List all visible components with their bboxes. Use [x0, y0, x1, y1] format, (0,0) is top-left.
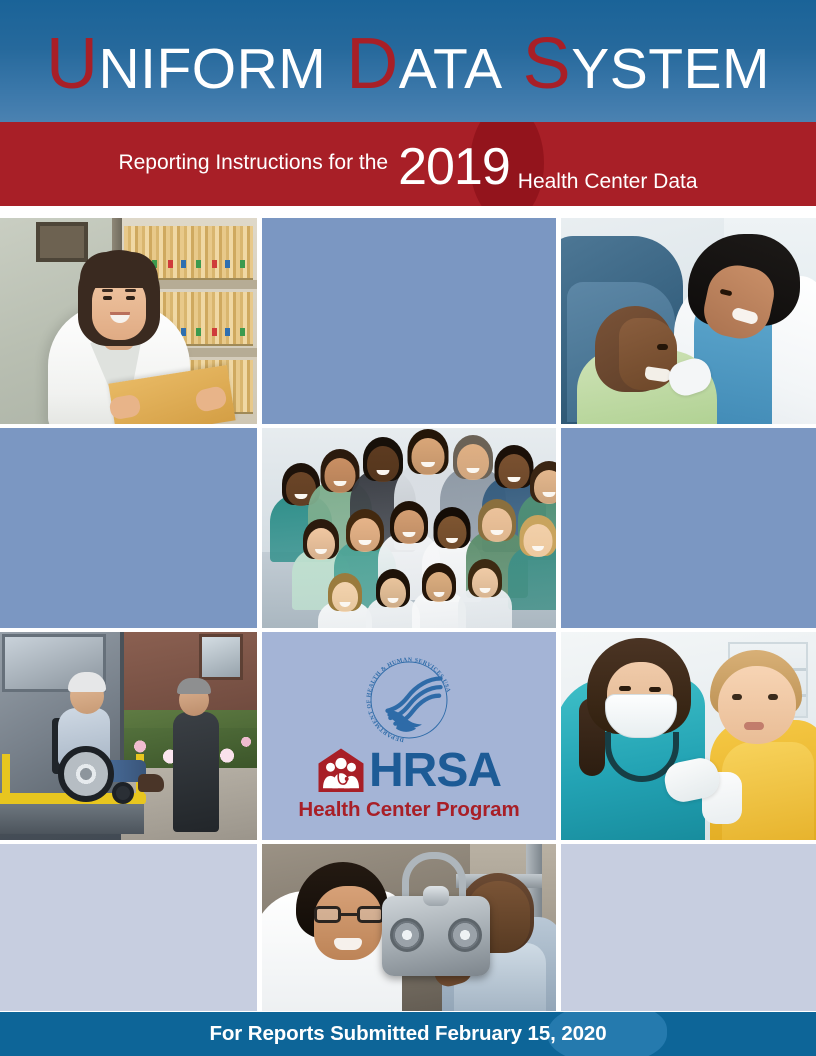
placeholder-r4c1 [0, 844, 257, 1011]
group-person-face [426, 572, 452, 602]
placeholder-r2c1 [0, 428, 257, 628]
group-person-face [472, 568, 498, 598]
document-cover-page: UNIFORMDATASYSTEM Reporting Instructions… [0, 0, 816, 1056]
eyeglass-bridge [341, 913, 357, 916]
photo-child-vaccination [561, 632, 816, 840]
phoropter-knob [423, 886, 449, 906]
cover-footer-band: For Reports Submitted February 15, 2020 [0, 1012, 816, 1056]
subtitle-row: Reporting Instructions for the 2019 Heal… [0, 122, 816, 206]
lift-rail-post [2, 754, 10, 804]
lift-platform [0, 800, 144, 834]
phoropter-lens-dial [448, 918, 482, 952]
staff-eye [126, 296, 135, 300]
optometrist-eyeglasses-icon [314, 906, 384, 923]
attendant-hair [177, 678, 211, 694]
group-person-face [534, 470, 556, 504]
photo-medical-records [0, 218, 257, 424]
staff-eyebrow [102, 289, 113, 292]
child-vaccination-illustration [561, 632, 816, 840]
subtitle-band: Reporting Instructions for the 2019 Heal… [0, 122, 816, 206]
hrsa-wordmark: HRSA [369, 749, 501, 793]
group-person-face [438, 516, 467, 549]
phoropter-device [382, 896, 490, 976]
passenger-shoe [138, 774, 164, 792]
medical-records-illustration [0, 218, 257, 424]
nurse-eye [649, 687, 661, 692]
photo-community-group [262, 428, 556, 628]
wall-picture-frame [36, 222, 88, 262]
attendant-torso [173, 712, 219, 832]
submission-deadline-text: For Reports Submitted February 15, 2020 [0, 1012, 816, 1056]
subtitle-suffix: Health Center Data [518, 171, 698, 192]
group-person-face [350, 518, 380, 552]
group-person-face [524, 524, 553, 557]
phoropter-lens-dial [390, 918, 424, 952]
hrsa-wordmark-row: HRSA [317, 747, 501, 795]
reporting-year: 2019 [398, 141, 510, 193]
group-person-face [307, 528, 335, 560]
group-person [458, 564, 512, 628]
title-cap-u: U [46, 24, 99, 104]
nurse-eye [619, 686, 631, 691]
toddler-eye [768, 694, 778, 700]
hrsa-house-family-icon [317, 747, 365, 795]
eye-exam-illustration [262, 844, 556, 1011]
dental-exam-illustration [561, 218, 816, 424]
staff-hair-front [80, 252, 158, 288]
group-person-face [394, 510, 424, 544]
placeholder-r1c2 [262, 218, 556, 424]
photo-eye-exam [262, 844, 556, 1011]
placeholder-r4c3 [561, 844, 816, 1011]
hrsa-logo-tile: DEPARTMENT OF HEALTH & HUMAN SERVICES US… [262, 632, 556, 840]
cover-photo-grid: DEPARTMENT OF HEALTH & HUMAN SERVICES US… [0, 206, 816, 1011]
staff-eye [103, 296, 112, 300]
group-person-face [380, 578, 406, 608]
group-person-face [332, 582, 358, 612]
child-eye [657, 344, 668, 350]
cover-header-band: UNIFORMDATASYSTEM [0, 0, 816, 122]
wheelchair-caster-wheel [112, 782, 134, 804]
title-rest-system: YSTEM [571, 37, 770, 101]
title-rest-uniform: NIFORM [98, 37, 326, 101]
placeholder-r2c3 [561, 428, 816, 628]
title-cap-d: D [346, 24, 399, 104]
group-person [508, 520, 556, 608]
staff-eyebrow [125, 289, 136, 292]
title-cap-s: S [523, 24, 572, 104]
toddler-face [718, 666, 796, 744]
hrsa-tagline: Health Center Program [298, 800, 519, 821]
wheelchair-large-wheel [58, 746, 114, 802]
title-rest-data: ATA [399, 37, 503, 101]
community-group-illustration [262, 428, 556, 628]
eyeglass-lens [357, 906, 384, 923]
subtitle-prefix: Reporting Instructions for the [118, 152, 388, 173]
toddler-eye [732, 694, 742, 700]
group-person [318, 578, 372, 628]
wheelchair-lift-illustration [0, 632, 257, 840]
building-window [199, 634, 243, 680]
hhs-seal-icon: DEPARTMENT OF HEALTH & HUMAN SERVICES US… [366, 657, 452, 743]
hrsa-logo-lockup: DEPARTMENT OF HEALTH & HUMAN SERVICES US… [262, 632, 556, 840]
optometrist-smile [334, 938, 362, 950]
photo-dental-exam [561, 218, 816, 424]
eyeglass-lens [314, 906, 341, 923]
toddler-mouth [744, 722, 764, 730]
page-title: UNIFORMDATASYSTEM [0, 28, 816, 100]
photo-wheelchair-lift [0, 632, 257, 840]
